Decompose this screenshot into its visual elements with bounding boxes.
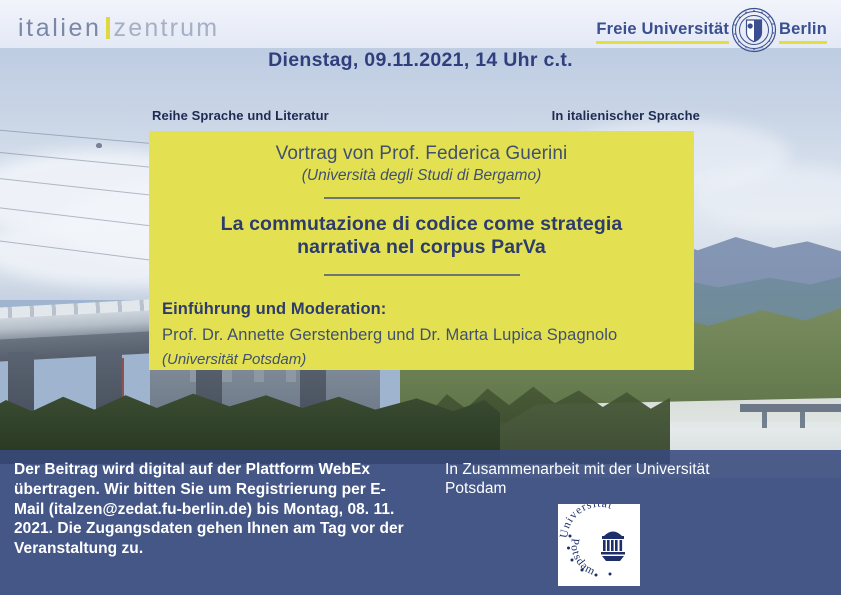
event-poster: italienzentrum Freie Universität <box>0 0 841 595</box>
moderation-names: Prof. Dr. Annette Gerstenberg und Dr. Ma… <box>162 326 694 345</box>
speaker-line: Vortrag von Prof. Federica Guerini <box>149 143 694 165</box>
fu-berlin-logo: Freie Universität <box>596 8 827 50</box>
talk-title-line-2: narrativa nel corpus ParVa <box>297 236 546 258</box>
logo-word-italien: italien <box>18 14 102 42</box>
event-date-line: Dienstag, 09.11.2021, 14 Uhr c.t. <box>0 49 841 72</box>
divider-rule-top <box>324 197 520 199</box>
divider-rule-bottom <box>324 274 520 276</box>
potsdam-building-glyph <box>601 532 625 562</box>
speaker-affiliation: (Università degli Studi di Bergamo) <box>149 167 694 185</box>
universitaet-potsdam-logo: Universität Potsdam <box>558 504 640 586</box>
river-bridge <box>740 404 841 412</box>
fu-logo-text-right: Berlin <box>779 20 827 39</box>
logo-divider-bar <box>106 17 110 39</box>
yellow-content-box: Vortrag von Prof. Federica Guerini (Univ… <box>149 131 694 370</box>
svg-text:Potsdam: Potsdam <box>568 538 597 578</box>
moderation-heading: Einführung und Moderation: <box>162 300 694 319</box>
bridge-pier <box>762 412 767 428</box>
language-label: In italienischer Sprache <box>552 108 700 123</box>
moderation-block: Einführung und Moderation: Prof. Dr. Ann… <box>162 300 694 368</box>
bridge-pier <box>800 412 805 428</box>
fu-berlin-seal-icon <box>731 7 777 53</box>
footer-band: Der Beitrag wird digital auf der Plattfo… <box>0 450 841 595</box>
svg-text:Universität: Universität <box>558 504 614 539</box>
moderation-affiliation: (Universität Potsdam) <box>162 351 694 368</box>
registration-info-text: Der Beitrag wird digital auf der Plattfo… <box>14 460 414 559</box>
talk-title-line-1: La commutazione di codice come strategia <box>221 213 623 235</box>
bird-silhouette <box>96 143 102 148</box>
logo-word-zentrum: zentrum <box>114 14 220 42</box>
italienzentrum-logo: italienzentrum <box>18 14 219 43</box>
header-band: italienzentrum Freie Universität <box>0 0 841 48</box>
cooperation-text: In Zusammenarbeit mit der Universität Po… <box>445 460 725 499</box>
series-label: Reihe Sprache und Literatur <box>152 108 329 123</box>
fu-logo-text-left: Freie Universität <box>596 20 729 39</box>
talk-title: La commutazione di codice come strategia… <box>149 213 694 261</box>
